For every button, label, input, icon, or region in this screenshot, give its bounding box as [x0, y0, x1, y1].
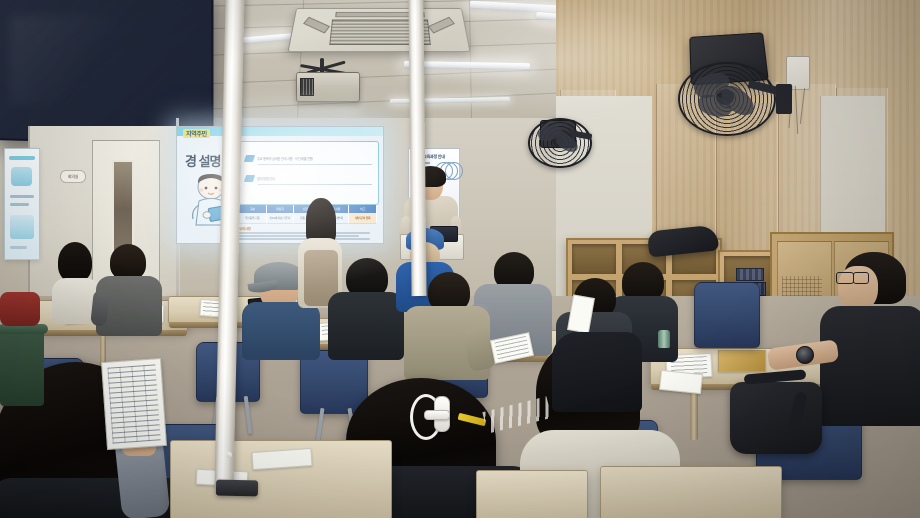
- slide-title: 경 설명: [185, 151, 221, 170]
- slide-tag: 지역주민: [183, 129, 210, 138]
- attendee-seated: [96, 244, 162, 334]
- slide-th: 대상자: [267, 205, 295, 213]
- printed-handout: [718, 350, 766, 372]
- pole-base: [216, 480, 258, 497]
- conference-table: [600, 466, 782, 518]
- slide-line-2: 참여 방법 안내: [257, 176, 275, 181]
- blue-office-chair[interactable]: [694, 282, 760, 348]
- attendee-seated: [328, 258, 404, 358]
- wall-mounted-display[interactable]: [0, 0, 213, 146]
- conference-table: [476, 470, 588, 518]
- slide-td: 주민등록 기준: [239, 213, 267, 224]
- slide-td-highlight: 세부 문의 전화: [349, 213, 377, 224]
- wall-information-poster: [4, 148, 40, 260]
- projector-lens-icon: [300, 78, 314, 96]
- eyeglasses: [836, 272, 854, 284]
- backpack: [730, 382, 822, 454]
- pole-cap: [226, 452, 232, 458]
- books-stack: [736, 268, 764, 281]
- fan-bracket: [776, 84, 792, 114]
- hair-clip: [424, 410, 450, 420]
- slide-th: 비고: [349, 205, 377, 213]
- eyeglasses: [853, 272, 869, 284]
- support-pole-center: [408, 0, 426, 296]
- slide-chip-icon: [244, 155, 255, 162]
- wall-fan-center: [528, 118, 590, 166]
- slide-chip-icon: [244, 175, 255, 182]
- slide-line-1: 주요 항목의 상세한 안내 사항 · 각 단계별 진행: [257, 156, 313, 161]
- projection-screen: 지역주민 경 설명 주요 항목의 상세한 안내 사항 · 각 단계별 진행: [176, 126, 384, 244]
- slide-td: 만19세 이상 거주자: [267, 213, 295, 224]
- air-conditioner-vent: [287, 8, 470, 52]
- attendee-foreground-body: [552, 332, 642, 412]
- classroom-photo: 회의실 지역주민 경 설명: [0, 0, 920, 518]
- slide-th: 구분: [239, 205, 267, 213]
- red-chair[interactable]: [0, 292, 40, 326]
- wall-fan-right: [678, 62, 774, 136]
- wristwatch: [796, 346, 814, 364]
- slide-content-panel: 주요 항목의 상세한 안내 사항 · 각 단계별 진행 참여 방법 안내: [239, 141, 379, 205]
- door-sign: 회의실: [60, 170, 86, 183]
- waste-bin: [0, 328, 44, 406]
- printed-handout: [101, 358, 167, 450]
